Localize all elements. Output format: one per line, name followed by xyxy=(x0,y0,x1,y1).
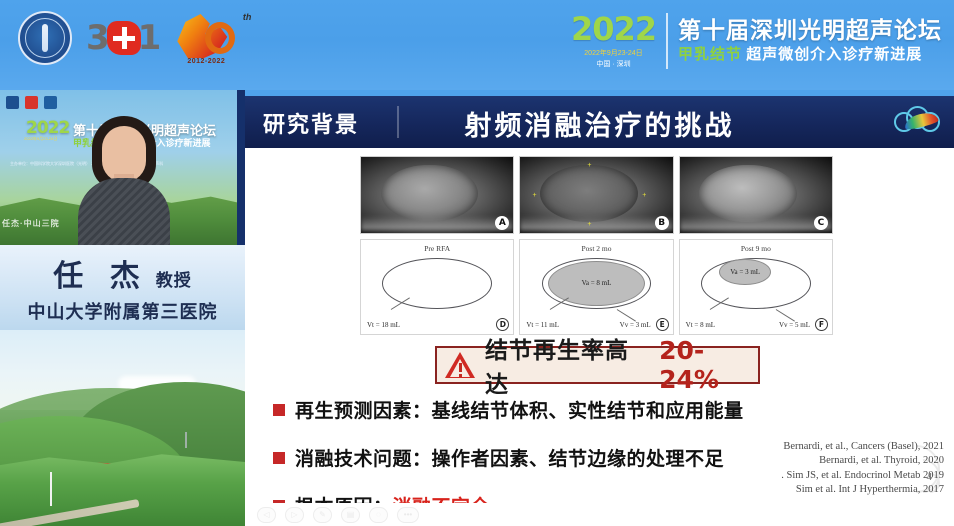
portrait-body xyxy=(78,178,170,245)
poster-logo-2-icon xyxy=(25,96,38,109)
video-watermark: 任杰·中山三院 xyxy=(2,218,60,229)
diagram-left-label-e: Vt = 11 mL xyxy=(526,321,559,329)
speaker-portrait xyxy=(78,116,170,245)
caliper-marker-top: + xyxy=(587,162,591,169)
leader-line-e-right xyxy=(616,309,635,322)
list-item: 再生预测因素：基线结节体积、实性结节和应用能量 xyxy=(273,396,893,423)
panel-badge-c: C xyxy=(814,216,828,230)
next-slide-button[interactable]: ▷ xyxy=(285,507,304,523)
ablated-zone-e: Va = 8 mL xyxy=(548,261,645,306)
reference-list: Bernardi, et al., Cancers (Basel), 2021 … xyxy=(781,440,944,497)
video-poster-logos xyxy=(6,96,57,109)
bullet-text-2: 消融技术问题：操作者因素、结节边缘的处理不足 xyxy=(295,444,724,471)
conference-top-banner: 3 1 th 2012-2022 2022 2022年9月23-24日 中国 ·… xyxy=(0,0,954,90)
diagram-right-label-e: Vv = 3 mL xyxy=(620,321,651,329)
bullet-square-icon xyxy=(273,452,285,464)
banner-place: 中国 · 深圳 xyxy=(571,59,656,69)
banner-year: 2022 xyxy=(571,13,656,45)
panel-badge-d: D xyxy=(496,318,509,331)
nodule-region-b xyxy=(540,165,637,223)
banner-subtitle-white: 超声微创介入诊疗新进展 xyxy=(746,46,922,63)
301-hospital-logo: 3 1 xyxy=(86,16,161,60)
speaker-video-feed[interactable]: 2022 2022年9月23-24日 第十届深圳光明超声论坛 甲乳结节 超声微创… xyxy=(0,90,245,245)
video-right-edge xyxy=(237,90,245,245)
caliper-marker-left: + xyxy=(533,192,537,199)
caliper-marker-right: + xyxy=(642,192,646,199)
bullet-text-3: 根本原因：消融不完全 xyxy=(295,492,490,503)
panel-badge-e: E xyxy=(656,318,669,331)
ultrasound-panel-c: C xyxy=(679,156,833,234)
more-options-button[interactable]: ••• xyxy=(397,507,419,523)
poster-logo-1-icon xyxy=(6,96,19,109)
video-poster-date: 2022年9月23-24日 xyxy=(24,136,57,142)
nodule-region-a xyxy=(381,165,478,223)
acoustic-band-a xyxy=(361,216,513,230)
callout-text: 结节再生率高达 xyxy=(485,331,643,399)
bullet-text-1: 再生预测因素：基线结节体积、实性结节和应用能量 xyxy=(295,396,744,423)
speaker-organization: 中山大学附属第三医院 xyxy=(28,298,218,324)
caliper-marker-bottom: + xyxy=(587,221,591,228)
logo-301-digit-1: 1 xyxy=(138,21,162,55)
scenic-photo xyxy=(0,330,245,526)
banner-main-title: 第十届深圳光明超声论坛 xyxy=(678,18,942,44)
anniversary-years: 2012-2022 xyxy=(187,58,225,65)
hospital-emblem-logo xyxy=(18,11,72,65)
ultrasound-panel-b: + + + + B xyxy=(519,156,673,234)
slide-header-bar: 研究背景 射频消融治疗的挑战 xyxy=(245,96,954,148)
diagram-title-d: Pre RFA xyxy=(361,244,513,253)
photo-pole xyxy=(50,472,52,506)
ultrasound-panel-a: A xyxy=(360,156,514,234)
annotate-pen-button[interactable]: ✎ xyxy=(313,507,332,523)
banner-title-block: 2022 2022年9月23-24日 中国 · 深圳 第十届深圳光明超声论坛 甲… xyxy=(571,13,942,69)
speaker-name-row: 任 杰 教授 xyxy=(53,251,191,295)
diagram-title-f: Post 9 mo xyxy=(680,244,832,253)
zoom-search-button[interactable]: ◌ xyxy=(369,507,388,523)
poster-logo-3-icon xyxy=(44,96,57,109)
presentation-slide[interactable]: 研究背景 射频消融治疗的挑战 A + + + + B C xyxy=(245,90,954,503)
photo-tower xyxy=(185,432,187,448)
leader-line-f-right xyxy=(776,309,795,322)
speaker-name: 任 杰 xyxy=(53,251,147,295)
banner-subtitle-green: 甲乳结节 xyxy=(678,46,742,63)
speaker-name-banner: 任 杰 教授 中山大学附属第三医院 xyxy=(0,245,245,330)
diagram-right-label-f: Vv = 5 mL xyxy=(779,321,810,329)
callout-percent: 20-24% xyxy=(659,336,758,394)
previous-slide-button[interactable]: ◁ xyxy=(257,507,276,523)
speaker-title: 教授 xyxy=(156,266,192,291)
banner-logo-group: 3 1 th 2012-2022 xyxy=(18,10,253,66)
diagram-panel-e: Post 2 mo Va = 8 mL Vt = 11 mL Vv = 3 mL… xyxy=(519,239,673,335)
reference-1: Bernardi, et al., Cancers (Basel), 2021 xyxy=(781,440,944,454)
diagram-left-label-d: Vt = 18 mL xyxy=(367,321,400,329)
cloud-logo-icon xyxy=(894,106,940,138)
panel-badge-f: F xyxy=(815,318,828,331)
diagram-panel-d: Pre RFA Vt = 18 mL D xyxy=(360,239,514,335)
ablated-zone-f: Va = 3 mL xyxy=(719,259,771,285)
regrowth-rate-callout: 结节再生率高达 20-24% xyxy=(435,346,760,384)
diagram-title-e: Post 2 mo xyxy=(520,244,672,253)
acoustic-band-b xyxy=(520,216,672,230)
warning-triangle-icon xyxy=(445,352,475,378)
banner-subtitle: 甲乳结节 超声微创介入诊疗新进展 xyxy=(678,46,942,64)
thyroid-outline-d xyxy=(382,258,492,309)
slide-page-number: 4 xyxy=(927,471,933,483)
reference-4: Sim et al. Int J Hyperthermia, 2017 xyxy=(781,483,944,497)
diagram-left-label-f: Vt = 8 mL xyxy=(686,321,715,329)
reference-2: Bernardi, et al. Thyroid, 2020 xyxy=(781,454,944,468)
banner-divider xyxy=(666,13,668,69)
banner-text-block: 第十届深圳光明超声论坛 甲乳结节 超声微创介入诊疗新进展 xyxy=(678,13,942,69)
bullet-square-icon xyxy=(273,404,285,416)
save-screenshot-button[interactable]: ▤ xyxy=(341,507,360,523)
slide-title: 射频消融治疗的挑战 xyxy=(245,104,954,143)
video-poster-year: 2022 xyxy=(26,118,69,138)
speaker-sidebar: 2022 2022年9月23-24日 第十届深圳光明超声论坛 甲乳结节 超声微创… xyxy=(0,90,245,526)
panel-badge-b: B xyxy=(655,216,669,230)
banner-year-block: 2022 2022年9月23-24日 中国 · 深圳 xyxy=(571,13,666,69)
banner-date: 2022年9月23-24日 xyxy=(571,48,656,58)
reference-3: . Sim JS, et al. Endocrinol Metab 2019 xyxy=(781,469,944,483)
emblem-staff-icon xyxy=(42,24,48,52)
nodule-region-c xyxy=(699,165,796,223)
zero-ring-icon xyxy=(205,22,235,54)
anniversary-superscript: th xyxy=(243,12,252,22)
diagram-panel-f: Post 9 mo Va = 3 mL Vt = 8 mL Vv = 5 mL … xyxy=(679,239,833,335)
tenth-anniversary-logo: th 2012-2022 xyxy=(175,10,253,66)
red-cross-icon xyxy=(107,21,141,55)
slide-control-toolbar[interactable]: ◁ ▷ ✎ ▤ ◌ ••• xyxy=(245,503,954,526)
acoustic-band-c xyxy=(680,216,832,230)
figure-panel-grid: A + + + + B C Pre RFA Vt = 18 mL D Post … xyxy=(360,156,833,339)
